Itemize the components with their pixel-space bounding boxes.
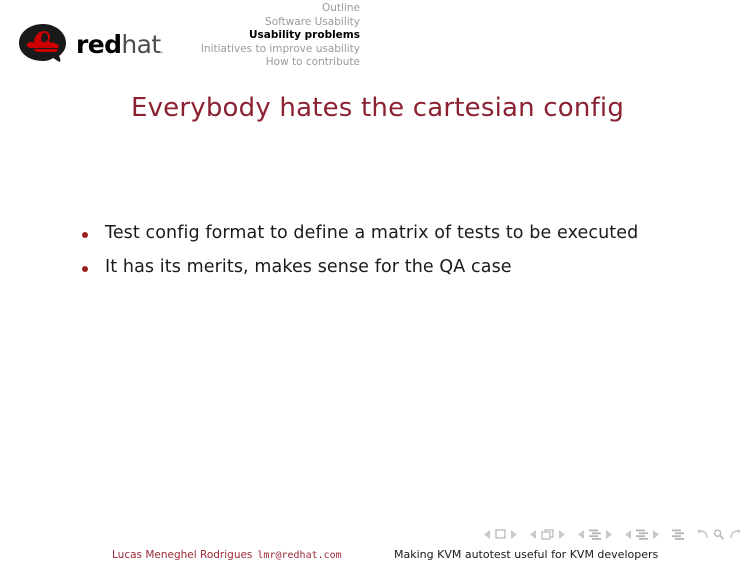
slide-title: Everybody hates the cartesian config bbox=[0, 93, 755, 123]
nav-item-software-usability[interactable]: Software Usability bbox=[60, 16, 360, 30]
footer-author-block: Lucas Meneghel Rodrigueslmr@redhat.com bbox=[112, 549, 342, 561]
bullet-text: Test config format to define a matrix of… bbox=[105, 222, 638, 244]
footer-author-name: Lucas Meneghel Rodrigues bbox=[112, 549, 252, 561]
nav-item-usability-problems[interactable]: Usability problems bbox=[60, 29, 360, 43]
list-item: Test config format to define a matrix of… bbox=[82, 222, 722, 244]
footer-presentation-title: Making KVM autotest useful for KVM devel… bbox=[394, 548, 658, 561]
bullet-text: It has its merits, makes sense for the Q… bbox=[105, 256, 512, 278]
presentation-slide: redhat. Outline Software Usability Usabi… bbox=[0, 0, 755, 566]
slide-header: redhat. Outline Software Usability Usabi… bbox=[0, 0, 755, 78]
bullet-dot-icon bbox=[82, 232, 88, 238]
bullet-dot-icon bbox=[82, 266, 88, 272]
nav-item-how-to-contribute[interactable]: How to contribute bbox=[60, 56, 360, 70]
nav-item-outline[interactable]: Outline bbox=[60, 2, 360, 16]
slide-footer: Lucas Meneghel Rodrigueslmr@redhat.com M… bbox=[0, 538, 755, 566]
slide-content: Test config format to define a matrix of… bbox=[82, 222, 722, 290]
section-navigation: Outline Software Usability Usability pro… bbox=[60, 2, 360, 70]
list-item: It has its merits, makes sense for the Q… bbox=[82, 256, 722, 278]
nav-item-initiatives-to-improve-usability[interactable]: Initiatives to improve usability bbox=[60, 43, 360, 57]
footer-author-email: lmr@redhat.com bbox=[257, 550, 341, 561]
